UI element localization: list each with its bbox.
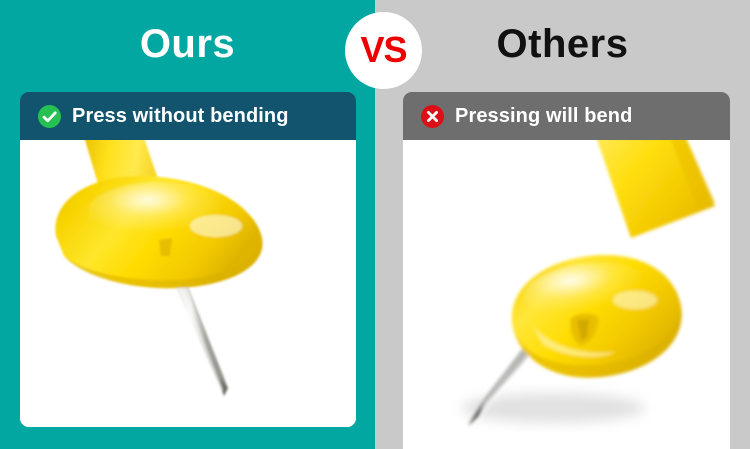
vs-badge-label: VS [360,32,406,68]
left-card-header: Press without bending [20,92,356,140]
right-panel-title: Others [375,18,750,70]
comparison-graphic: Ours Others VS Press without bending [0,0,750,449]
left-panel-title: Ours [0,18,375,70]
x-circle-icon [421,105,444,128]
right-card-header: Pressing will bend [403,92,730,140]
right-product-card: Pressing will bend [403,92,730,449]
right-status-label: Pressing will bend [455,105,632,128]
left-product-card: Press without bending [20,92,356,427]
left-status-label: Press without bending [72,105,289,128]
vs-badge-icon: VS [345,12,422,89]
check-circle-icon [38,105,61,128]
left-product-photo [20,140,356,427]
right-product-photo [403,140,730,449]
